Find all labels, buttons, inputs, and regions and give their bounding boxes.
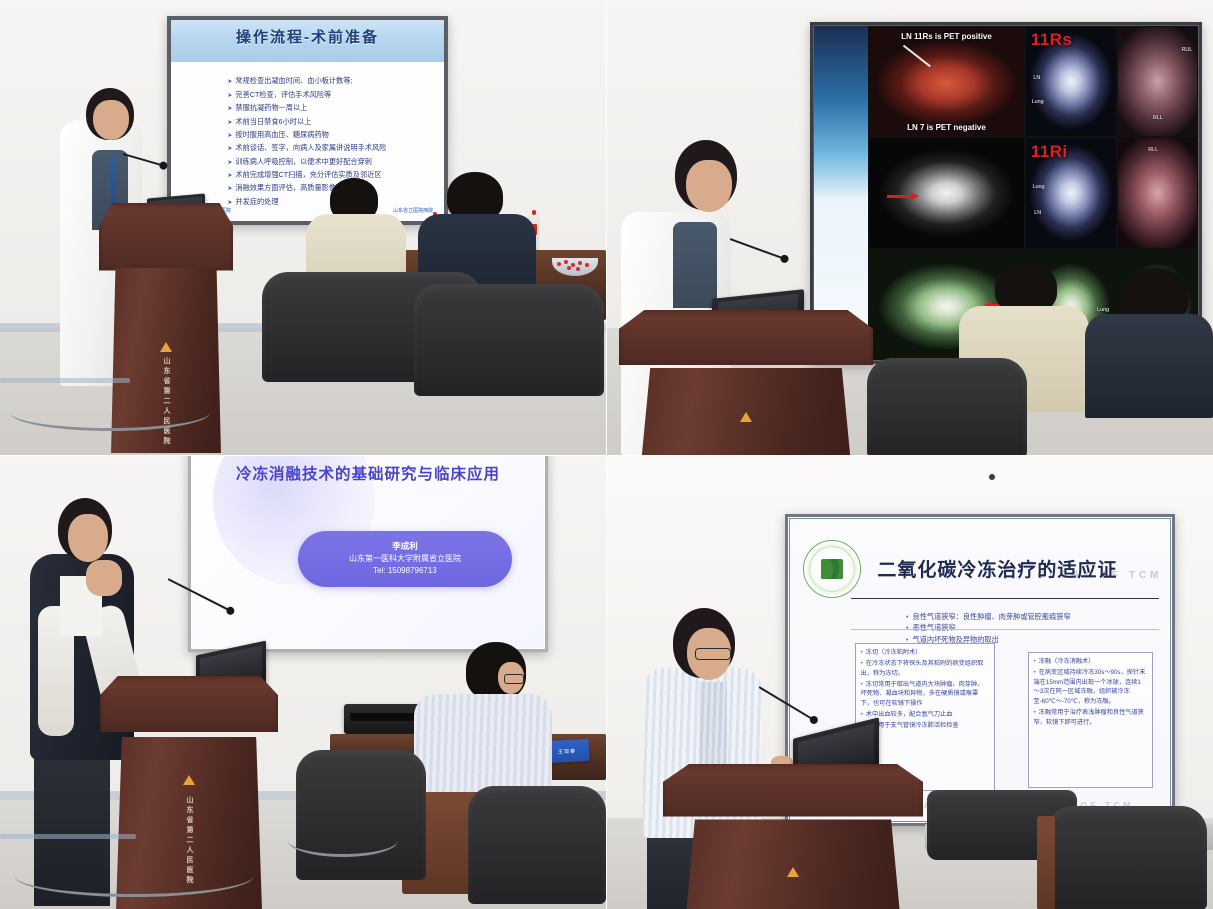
floor-cable bbox=[10, 394, 210, 431]
clasped-hands bbox=[86, 560, 122, 596]
presenter-name: 李成利 bbox=[392, 541, 418, 552]
lung-label: Lung bbox=[1032, 184, 1044, 190]
list-item: 按时服用高血压、糖尿病药物 bbox=[227, 129, 433, 141]
podium-top bbox=[663, 764, 923, 817]
box-heading: 冻融（冷冻消融术） bbox=[1034, 657, 1147, 667]
leather-chair bbox=[414, 284, 604, 396]
red-arrow-icon bbox=[887, 195, 913, 198]
warning-triangle-icon bbox=[183, 775, 195, 785]
ceiling-sensor-icon bbox=[989, 474, 995, 480]
warning-triangle-icon bbox=[787, 867, 799, 877]
list-item: 术中出血较多，配合氩气刀止血 bbox=[861, 710, 990, 720]
eyeglasses-icon bbox=[695, 648, 731, 660]
lung-label: Lung bbox=[1097, 307, 1109, 313]
list-item: 完善CT检查，评估手术风险等 bbox=[227, 89, 433, 101]
slide-title: 冷冻消融技术的基础研究与临床应用 bbox=[192, 462, 544, 484]
slide-title: 操作流程-术前准备 bbox=[171, 26, 444, 47]
projection-screen: 操作流程-术前准备 常规检查出凝血时间、血小板计数等; 完善CT检查，评估手术风… bbox=[167, 16, 448, 225]
office-chair bbox=[468, 786, 606, 904]
leather-chair bbox=[867, 358, 1027, 455]
projection-screen: 冷冻消融技术的基础研究与临床应用 李成利 山东第一医科大学附属省立医院 Tel:… bbox=[188, 456, 548, 652]
tcm-hospital-logo bbox=[803, 540, 861, 598]
inner-shirt bbox=[673, 222, 717, 308]
photo-collage: 操作流程-术前准备 常规检查出凝血时间、血小板计数等; 完善CT检查，评估手术风… bbox=[0, 0, 1213, 909]
warning-triangle-icon bbox=[740, 412, 752, 422]
coronal-ct-11ri: 11Ri Lung LN bbox=[1025, 137, 1117, 248]
floor-cable bbox=[288, 824, 398, 857]
list-item: 良性气道狭窄：良性肿瘤、肉芽肿或管腔瘢痕狭窄 bbox=[906, 611, 1151, 623]
podium: 呼吸与危重症医学科 bbox=[619, 310, 873, 455]
footer-logo-right: 山东省立医院西院 bbox=[393, 206, 433, 215]
ln-label: LN bbox=[1034, 210, 1041, 216]
panel-top-right: LN 11Rs is PET positive LN 7 is PET nega… bbox=[607, 0, 1213, 455]
list-item: 冻切常用于取出气道内大块肿瘤、肉芽肿、坏死物、凝血块和异物，多在硬质镜或喉罩下，… bbox=[861, 680, 990, 709]
list-item: 禁服抗凝药物一周以上 bbox=[227, 102, 433, 114]
pet-fused-image: LN 11Rs is PET positive LN 7 is PET nega… bbox=[868, 26, 1025, 137]
chair-frame bbox=[1037, 816, 1055, 909]
office-chair bbox=[296, 750, 426, 880]
slide-cryoablation-title: 冷冻消融技术的基础研究与临床应用 李成利 山东第一医科大学附属省立医院 Tel:… bbox=[192, 456, 544, 648]
speaker-face bbox=[93, 100, 129, 140]
station-label-11rs: 11Rs bbox=[1031, 30, 1073, 50]
list-item: 术前完成增强CT扫描，充分评估实质及邻近区 bbox=[227, 169, 433, 181]
list-item: 冻融常用于治疗表浅肿瘤和良性气道狭窄，软镜下即可进行。 bbox=[1034, 708, 1147, 727]
list-item: 训练病人呼吸控制，以便术中更好配合穿刺 bbox=[227, 156, 433, 168]
title-underline bbox=[851, 598, 1159, 600]
podium-top bbox=[99, 203, 233, 271]
eyeglasses-icon bbox=[504, 674, 524, 684]
axial-ct-image bbox=[868, 137, 1025, 248]
presenter-card: 李成利 山东第一医科大学附属省立医院 Tel: 15098796713 bbox=[298, 531, 513, 586]
rll-label: RLL bbox=[1148, 147, 1158, 153]
list-item: 在冷冻状态下将探头及其粘附的病变组织取出，称为冻切。 bbox=[861, 659, 990, 678]
bronchoscopy-image-rll: RLL bbox=[1117, 137, 1198, 248]
list-item: 恶性气道狭窄 bbox=[906, 622, 1151, 634]
bronchoscopy-image-rul: RUL RLL bbox=[1117, 26, 1198, 137]
list-item: 术前谈话、签字，向病人及家属讲说明手术风险 bbox=[227, 142, 433, 154]
floor-cable bbox=[14, 854, 254, 897]
presenter-affiliation: 山东第一医科大学附属省立医院 bbox=[349, 554, 461, 565]
presenter-tel: Tel: 15098796713 bbox=[373, 566, 437, 577]
slide-preoperative-preparation: 操作流程-术前准备 常规检查出凝血时间、血小板计数等; 完善CT检查，评估手术风… bbox=[171, 20, 444, 221]
podium-top bbox=[619, 310, 873, 365]
podium-body bbox=[642, 368, 850, 455]
list-item: 常规检查出凝血时间、血小板计数等; bbox=[227, 75, 433, 87]
station-label-11ri: 11Ri bbox=[1031, 142, 1068, 162]
panel-bottom-right: OLOGY OF TCM 二氧化碳冷冻治疗的适应证 良性气道狭窄：良性肿瘤、肉芽… bbox=[607, 456, 1213, 909]
coronal-ct-11rs: 11Rs LN Lung bbox=[1025, 26, 1117, 137]
content-box-cryo-ablation: 冻融（冷冻消融术） 在病变区域持续冷冻30s～90s，探针末端在15mm范围内出… bbox=[1028, 652, 1153, 788]
list-item: 亦可用于支气管镜冷冻肺活检检查 bbox=[861, 721, 990, 731]
lung-label: Lung bbox=[1032, 99, 1044, 105]
podium-top bbox=[100, 676, 278, 732]
leaf-icon bbox=[821, 559, 843, 579]
podium-body bbox=[686, 819, 899, 909]
podium: 呼吸与危重症医学科 bbox=[663, 764, 923, 909]
rul-label: RUL bbox=[1181, 47, 1192, 53]
section-divider bbox=[851, 629, 1159, 630]
rll-label: RLL bbox=[1153, 115, 1163, 121]
slide-title: 二氧化碳冷冻治疗的适应证 bbox=[877, 555, 1117, 582]
floor-strip bbox=[0, 834, 136, 839]
slide-bullet-list: 良性气道狭窄：良性肿瘤、肉芽肿或管腔瘢痕狭窄 恶性气道狭窄 气道内坏死物及异物的… bbox=[866, 611, 1151, 646]
pet-positive-label: LN 11Rs is PET positive bbox=[901, 32, 992, 41]
slide-bullet-list: 常规检查出凝血时间、血小板计数等; 完善CT检查，评估手术风险等 禁服抗凝药物一… bbox=[187, 75, 433, 209]
box-heading: 冻切（冷冻粘附术） bbox=[861, 648, 990, 658]
list-item: 在病变区域持续冷冻30s～90s，探针末端在15mm范围内出现一个冰球，连续1～… bbox=[1034, 668, 1147, 706]
white-arrow-icon bbox=[903, 45, 931, 67]
speaker-face bbox=[686, 160, 732, 212]
shirt-placket bbox=[699, 682, 727, 770]
floor-strip bbox=[0, 378, 130, 383]
ln-label: LN bbox=[1033, 75, 1040, 81]
warning-triangle-icon bbox=[160, 342, 172, 352]
speaker-face bbox=[68, 514, 108, 562]
panel-top-left: 操作流程-术前准备 常规检查出凝血时间、血小板计数等; 完善CT检查，评估手术风… bbox=[0, 0, 606, 455]
pet-negative-label: LN 7 is PET negative bbox=[907, 123, 986, 132]
office-chair bbox=[1047, 806, 1207, 909]
list-item: 术前当日禁食6小时以上 bbox=[227, 116, 433, 128]
panel-bottom-left: 冷冻消融技术的基础研究与临床应用 李成利 山东第一医科大学附属省立医院 Tel:… bbox=[0, 456, 606, 909]
